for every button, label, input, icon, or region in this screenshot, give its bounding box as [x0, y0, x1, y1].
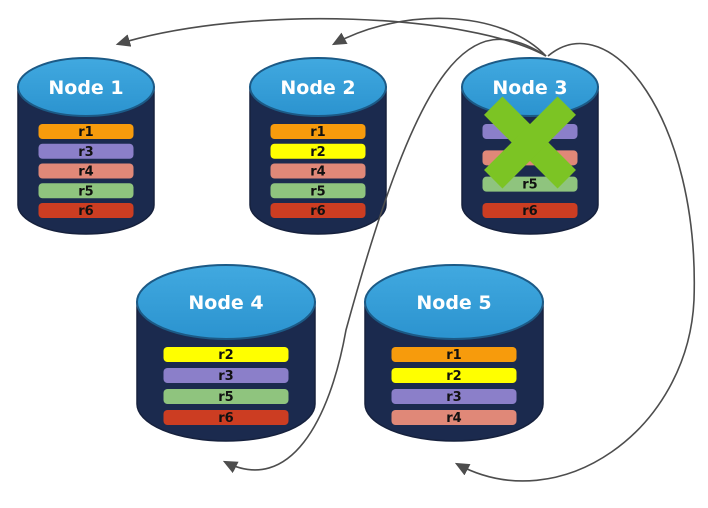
- db-node-4[interactable]: Node 4r2r3r5r6: [137, 265, 315, 441]
- record-label: r4: [310, 165, 325, 180]
- record-label: r4: [78, 165, 93, 180]
- record-label: r2: [218, 348, 233, 363]
- arrow-node3-to-node1[interactable]: [118, 19, 546, 56]
- record-label: r5: [78, 184, 93, 199]
- record-label: r5: [310, 184, 325, 199]
- record-label: r6: [78, 204, 93, 219]
- node-label: Node 2: [280, 77, 355, 99]
- record-label: r6: [310, 204, 325, 219]
- record-label: r5: [218, 390, 233, 405]
- replication-diagram: Node 1r1r3r4r5r6Node 2r1r2r4r5r6Node 3r3…: [0, 0, 708, 508]
- record-label: r5: [522, 178, 537, 193]
- db-node-2[interactable]: Node 2r1r2r4r5r6: [250, 58, 386, 234]
- node-label: Node 5: [416, 292, 491, 314]
- record-label: r3: [78, 145, 93, 160]
- db-node-1[interactable]: Node 1r1r3r4r5r6: [18, 58, 154, 234]
- node-label: Node 1: [48, 77, 123, 99]
- node-label: Node 4: [188, 292, 263, 314]
- record-label: r6: [218, 411, 233, 426]
- db-node-5[interactable]: Node 5r1r2r3r4: [365, 265, 543, 441]
- record-label: r3: [446, 390, 461, 405]
- record-label: r3: [218, 369, 233, 384]
- node-label: Node 3: [492, 77, 567, 99]
- record-label: r2: [310, 145, 325, 160]
- record-label: r6: [522, 204, 537, 219]
- record-label: r2: [446, 369, 461, 384]
- record-label: r1: [78, 125, 93, 140]
- arrow-node3-to-node2[interactable]: [334, 18, 546, 56]
- record-label: r1: [310, 125, 325, 140]
- record-label: r4: [446, 411, 461, 426]
- record-label: r1: [446, 348, 461, 363]
